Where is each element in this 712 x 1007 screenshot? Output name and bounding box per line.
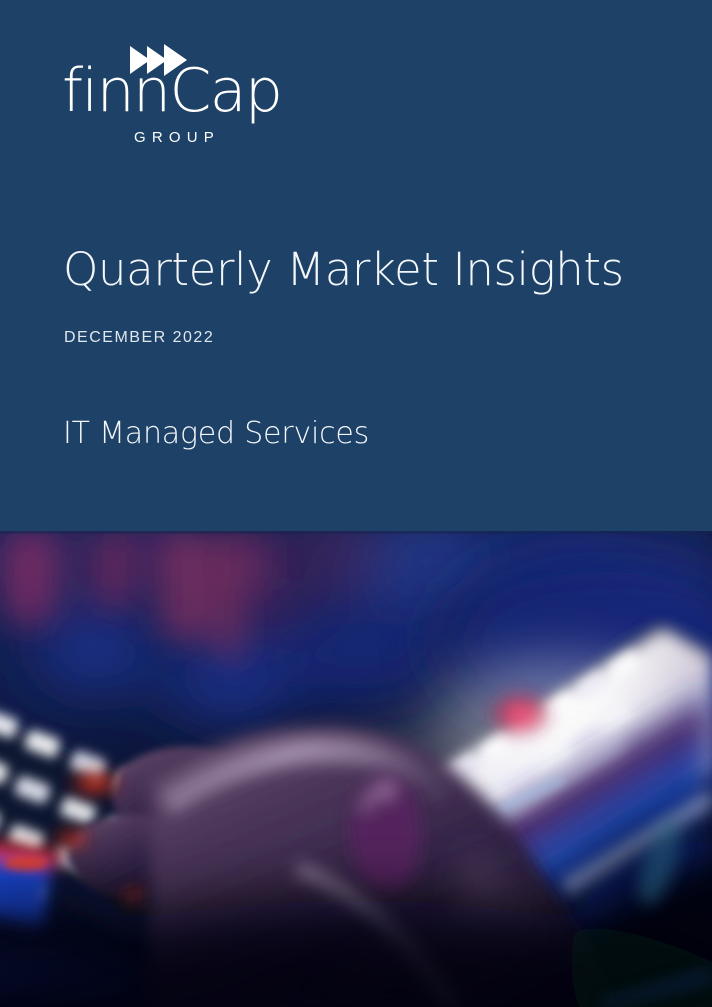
page-title: Quarterly Market Insights [63, 245, 624, 295]
logo-subtext: GROUP [134, 130, 220, 145]
page-subtitle: IT Managed Services [63, 417, 369, 452]
publication-date: DECEMBER 2022 [64, 330, 214, 346]
cover-photograph [0, 531, 712, 1007]
logo-wordmark: finnCap [62, 61, 281, 121]
keyboard-photo-illustration [0, 531, 712, 1007]
document-cover-page: finnCap GROUP Quarterly Market Insights … [0, 0, 712, 1007]
finncap-group-logo: finnCap GROUP [62, 44, 282, 154]
